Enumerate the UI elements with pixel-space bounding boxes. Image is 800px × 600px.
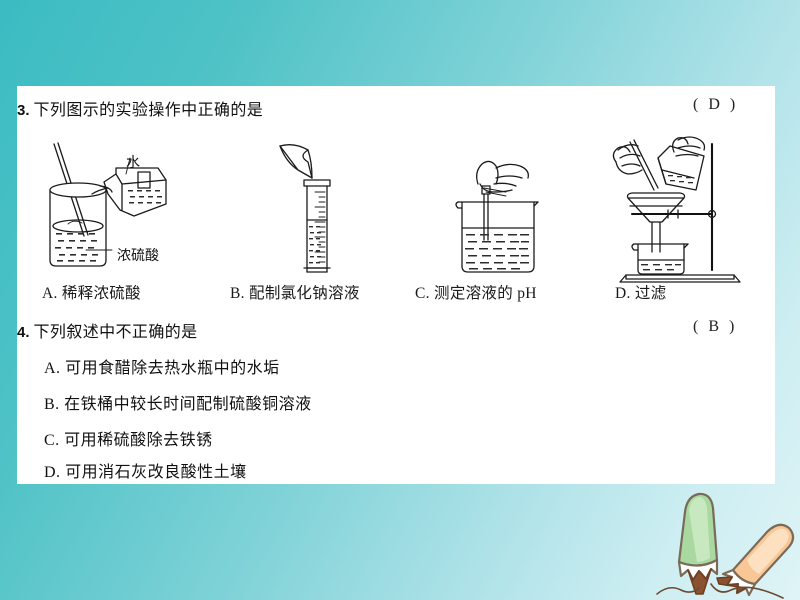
question-4-option-c: C. 可用稀硫酸除去铁锈: [44, 426, 213, 450]
figure-d-drawing: [608, 128, 748, 283]
question-4-option-d-letter: D.: [44, 464, 61, 481]
question-4-option-a: A. 可用食醋除去热水瓶中的水垢: [44, 354, 280, 378]
figure-option-label-c: C. 测定溶液的 pH: [415, 281, 537, 303]
figure-option-a-letter: A.: [42, 285, 58, 302]
figure-option-label-b: B. 配制氯化钠溶液: [230, 281, 360, 303]
label-water: 水: [126, 152, 140, 172]
figure-option-c-letter: C.: [415, 285, 430, 302]
question-3-answer: ( D ): [693, 96, 738, 114]
figure-measuring-ph-of-solution: [450, 150, 580, 280]
question-4-option-b: B. 在铁桶中较长时间配制硫酸铜溶液: [44, 390, 312, 414]
figure-option-label-d: D. 过滤: [615, 281, 666, 303]
question-4-option-a-text: 可用食醋除去热水瓶中的水垢: [65, 360, 280, 377]
figure-option-a-text: 稀释浓硫酸: [62, 285, 141, 302]
beaker-liquid-hatch: [465, 234, 529, 270]
acid-liquid-hatch: [55, 233, 98, 262]
question-4-option-c-letter: C.: [44, 432, 60, 449]
question-4-stem: 下列叙述中不正确的是: [34, 324, 198, 341]
question-4-answer: ( B ): [693, 318, 737, 336]
question-4-option-d: D. 可用消石灰改良酸性土壤: [44, 458, 247, 482]
question-4-option-c-text: 可用稀硫酸除去铁锈: [64, 432, 213, 449]
question-3-stem-row: 3. 下列图示的实验操作中正确的是: [17, 96, 263, 120]
figure-option-d-text: 过滤: [635, 285, 667, 302]
figure-filtration-apparatus: [608, 128, 748, 283]
question-4-option-b-letter: B.: [44, 396, 60, 413]
pencils-decoration: [655, 484, 800, 600]
receiver-liquid-hatch: [641, 264, 681, 270]
figure-option-b-text: 配制氯化钠溶液: [249, 285, 360, 302]
green-pencil-icon: [679, 494, 717, 594]
figure-option-b-letter: B.: [230, 285, 245, 302]
figure-option-label-a: A. 稀释浓硫酸: [42, 281, 141, 303]
figure-c-drawing: [450, 150, 580, 280]
pencils-drawing: [655, 484, 800, 600]
figure-measuring-cylinder-with-paper: [268, 140, 378, 280]
figure-option-c-text: 测定溶液的 pH: [434, 285, 537, 302]
figure-b-drawing: [268, 140, 378, 280]
question-4-stem-row: 4. 下列叙述中不正确的是: [17, 318, 198, 342]
question-3-number: 3.: [17, 102, 30, 119]
orange-pencil-icon: [717, 525, 793, 595]
question-4-option-d-text: 可用消石灰改良酸性土壤: [65, 464, 247, 481]
question-4-option-a-letter: A.: [44, 360, 61, 377]
label-concentrated-sulfuric-acid: 浓硫酸: [117, 245, 159, 265]
question-4-number: 4.: [17, 324, 30, 341]
question-4-option-b-text: 在铁桶中较长时间配制硫酸铜溶液: [64, 396, 312, 413]
water-liquid-hatch: [128, 190, 162, 204]
question-3-stem: 下列图示的实验操作中正确的是: [34, 102, 264, 119]
figure-option-d-letter: D.: [615, 285, 631, 302]
slide-canvas: 3. 下列图示的实验操作中正确的是 ( D ): [0, 0, 800, 600]
